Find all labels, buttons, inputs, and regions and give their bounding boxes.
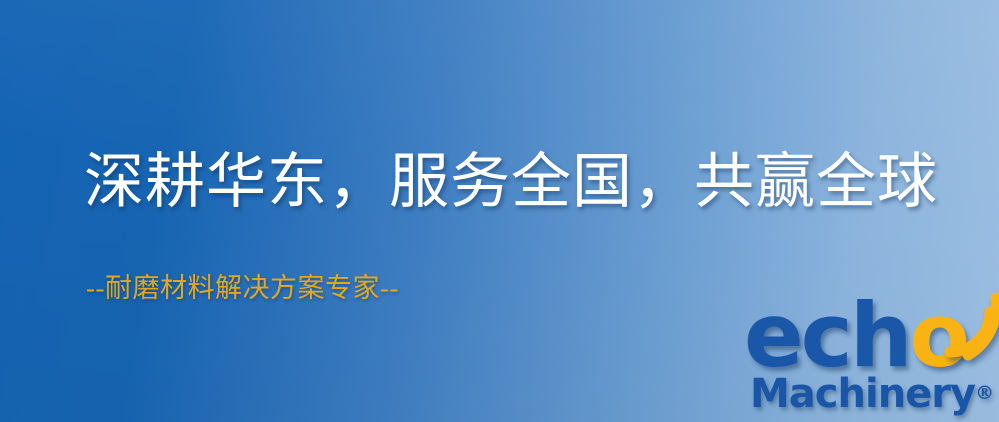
company-logo: echo Machinery® <box>744 296 999 422</box>
logo-tagline: Machinery® <box>750 374 994 414</box>
banner-headline: 深耕华东，服务全国，共赢全球 <box>84 150 938 215</box>
banner-subtitle: --耐磨材料解决方案专家-- <box>86 266 399 305</box>
signal-arcs-icon <box>924 292 999 366</box>
promotional-banner: 深耕华东，服务全国，共赢全球 --耐磨材料解决方案专家-- echo Machi… <box>0 0 999 422</box>
logo-tagline-text: Machinery <box>750 371 975 417</box>
registered-trademark-icon: ® <box>975 382 994 404</box>
